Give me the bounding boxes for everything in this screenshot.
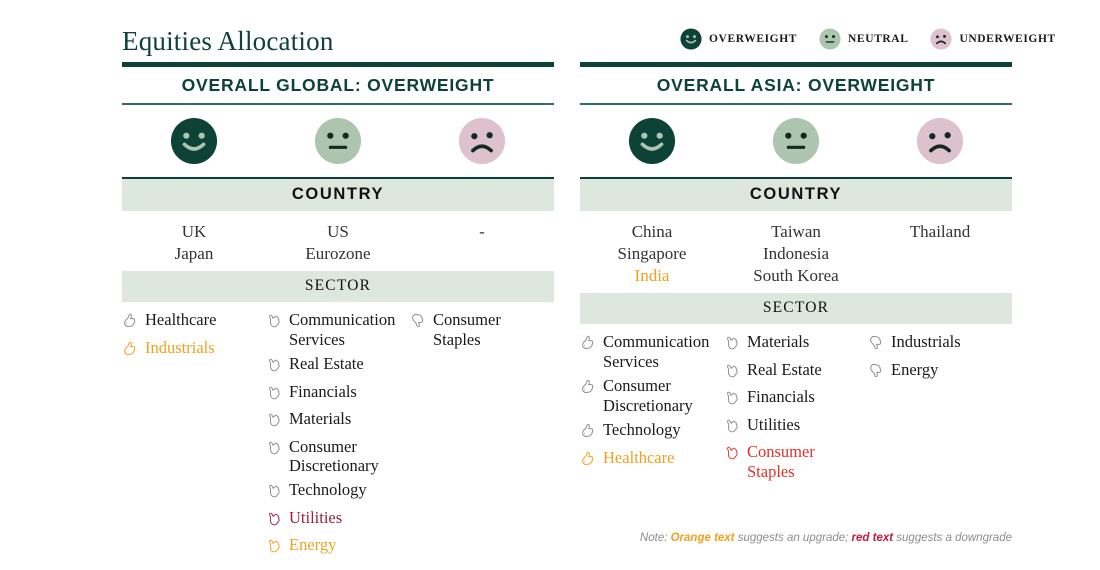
sector-column-2: IndustrialsEnergy bbox=[868, 332, 1012, 486]
sector-item: Materials bbox=[724, 332, 862, 354]
sector-item: Consumer Staples bbox=[724, 442, 862, 481]
sector-item: Energy bbox=[266, 535, 404, 557]
sector-item: Technology bbox=[580, 420, 718, 442]
legend-label: UNDERWEIGHT bbox=[959, 33, 1055, 45]
sector-item-label: Materials bbox=[747, 332, 862, 351]
country-item: Singapore bbox=[580, 243, 724, 265]
sector-item: Healthcare bbox=[580, 448, 718, 470]
face-cell-1 bbox=[724, 117, 868, 165]
face-row bbox=[580, 105, 1012, 177]
page-title: Equities Allocation bbox=[122, 26, 334, 57]
legend-item-neutral: NEUTRAL bbox=[819, 28, 908, 50]
equities-allocation-page: Equities Allocation OVERWEIGHTNEUTRALUND… bbox=[0, 0, 1100, 570]
sector-item-label: Utilities bbox=[289, 508, 404, 527]
thumbs-sideways-icon bbox=[724, 445, 740, 464]
thumbs-up-icon bbox=[122, 313, 138, 332]
thumbs-sideways-icon bbox=[266, 440, 282, 459]
sector-column-0: HealthcareIndustrials bbox=[122, 310, 266, 563]
smiley-face-icon bbox=[680, 28, 702, 50]
thumbs-sideways-icon bbox=[266, 483, 282, 502]
sector-item: Consumer Staples bbox=[410, 310, 548, 349]
country-column-1: TaiwanIndonesiaSouth Korea bbox=[724, 221, 868, 287]
sector-item: Communication Services bbox=[580, 332, 718, 371]
footnote-prefix: Note: bbox=[640, 532, 671, 544]
thumbs-up-icon bbox=[580, 423, 596, 442]
sector-item: Utilities bbox=[724, 415, 862, 437]
face-cell-1 bbox=[266, 117, 410, 165]
thumbs-sideways-icon bbox=[266, 313, 282, 332]
thumbs-down-icon bbox=[410, 313, 426, 332]
footnote-orange-text: Orange text bbox=[671, 532, 735, 544]
sector-item-label: Utilities bbox=[747, 415, 862, 434]
thumbs-sideways-icon bbox=[724, 335, 740, 354]
panel-global: OVERALL GLOBAL: OVERWEIGHTCOUNTRYUKJapan… bbox=[122, 62, 554, 563]
sector-row: HealthcareIndustrialsCommunication Servi… bbox=[122, 302, 554, 563]
sector-item: Real Estate bbox=[724, 360, 862, 382]
country-item: Thailand bbox=[868, 221, 1012, 243]
footnote-middle: suggests an upgrade; bbox=[735, 532, 852, 544]
thumbs-down-icon bbox=[868, 335, 884, 354]
sector-item-label: Real Estate bbox=[747, 360, 862, 379]
overall-heading: OVERALL GLOBAL: OVERWEIGHT bbox=[122, 67, 554, 103]
country-column-2: Thailand bbox=[868, 221, 1012, 287]
legend-label: NEUTRAL bbox=[848, 33, 908, 45]
thumbs-down-icon bbox=[868, 363, 884, 382]
sector-item-label: Consumer Staples bbox=[747, 442, 862, 481]
face-cell-0 bbox=[580, 117, 724, 165]
sector-item-label: Consumer Staples bbox=[433, 310, 548, 349]
sector-item: Materials bbox=[266, 409, 404, 431]
country-item: Japan bbox=[122, 243, 266, 265]
sector-item-label: Communication Services bbox=[603, 332, 718, 371]
thumbs-up-icon bbox=[580, 379, 596, 398]
country-row: ChinaSingaporeIndiaTaiwanIndonesiaSouth … bbox=[580, 211, 1012, 293]
sector-item-label: Industrials bbox=[145, 338, 260, 357]
sector-item: Consumer Discretionary bbox=[266, 437, 404, 476]
face-row bbox=[122, 105, 554, 177]
sector-item-label: Materials bbox=[289, 409, 404, 428]
panel-asia: OVERALL ASIA: OVERWEIGHTCOUNTRYChinaSing… bbox=[580, 62, 1012, 486]
country-item: India bbox=[580, 265, 724, 287]
country-item: US bbox=[266, 221, 410, 243]
sector-item-label: Consumer Discretionary bbox=[603, 376, 718, 415]
sector-item-label: Financials bbox=[747, 387, 862, 406]
country-row: UKJapanUSEurozone- bbox=[122, 211, 554, 271]
sector-item: Communication Services bbox=[266, 310, 404, 349]
footnote-red-text: red text bbox=[852, 532, 894, 544]
legend-label: OVERWEIGHT bbox=[709, 33, 797, 45]
legend: OVERWEIGHTNEUTRALUNDERWEIGHT bbox=[680, 28, 1078, 50]
sector-item: Energy bbox=[868, 360, 1006, 382]
footnote: Note: Orange text suggests an upgrade; r… bbox=[640, 532, 1012, 544]
sector-item: Financials bbox=[724, 387, 862, 409]
smiley-face-icon bbox=[170, 117, 218, 165]
country-item: China bbox=[580, 221, 724, 243]
sector-item-label: Technology bbox=[289, 480, 404, 499]
neutral-face-icon bbox=[819, 28, 841, 50]
country-header: COUNTRY bbox=[580, 179, 1012, 211]
country-column-0: ChinaSingaporeIndia bbox=[580, 221, 724, 287]
sector-header: SECTOR bbox=[122, 271, 554, 302]
thumbs-up-icon bbox=[580, 335, 596, 354]
sector-item: Industrials bbox=[122, 338, 260, 360]
thumbs-sideways-icon bbox=[266, 511, 282, 530]
thumbs-up-icon bbox=[580, 451, 596, 470]
thumbs-up-icon bbox=[122, 341, 138, 360]
thumbs-sideways-icon bbox=[724, 418, 740, 437]
footnote-suffix: suggests a downgrade bbox=[893, 532, 1012, 544]
frowny-face-icon bbox=[916, 117, 964, 165]
thumbs-sideways-icon bbox=[724, 390, 740, 409]
sector-item-label: Industrials bbox=[891, 332, 1006, 351]
thumbs-sideways-icon bbox=[266, 385, 282, 404]
country-item: Indonesia bbox=[724, 243, 868, 265]
country-item: Eurozone bbox=[266, 243, 410, 265]
sector-item: Financials bbox=[266, 382, 404, 404]
sector-item: Real Estate bbox=[266, 354, 404, 376]
face-cell-0 bbox=[122, 117, 266, 165]
country-item: UK bbox=[122, 221, 266, 243]
country-item: - bbox=[410, 221, 554, 243]
sector-item-label: Consumer Discretionary bbox=[289, 437, 404, 476]
thumbs-sideways-icon bbox=[724, 363, 740, 382]
neutral-face-icon bbox=[772, 117, 820, 165]
sector-item-label: Technology bbox=[603, 420, 718, 439]
sector-item-label: Healthcare bbox=[603, 448, 718, 467]
overall-heading: OVERALL ASIA: OVERWEIGHT bbox=[580, 67, 1012, 103]
country-column-1: USEurozone bbox=[266, 221, 410, 265]
country-column-2: - bbox=[410, 221, 554, 265]
face-cell-2 bbox=[868, 117, 1012, 165]
thumbs-sideways-icon bbox=[266, 538, 282, 557]
sector-column-2: Consumer Staples bbox=[410, 310, 554, 563]
thumbs-sideways-icon bbox=[266, 412, 282, 431]
sector-column-0: Communication ServicesConsumer Discretio… bbox=[580, 332, 724, 486]
sector-item-label: Financials bbox=[289, 382, 404, 401]
country-column-0: UKJapan bbox=[122, 221, 266, 265]
legend-item-overweight: OVERWEIGHT bbox=[680, 28, 797, 50]
sector-item: Healthcare bbox=[122, 310, 260, 332]
sector-item-label: Energy bbox=[891, 360, 1006, 379]
country-item: South Korea bbox=[724, 265, 868, 287]
sector-row: Communication ServicesConsumer Discretio… bbox=[580, 324, 1012, 486]
sector-item: Technology bbox=[266, 480, 404, 502]
thumbs-sideways-icon bbox=[266, 357, 282, 376]
frowny-face-icon bbox=[458, 117, 506, 165]
sector-item-label: Energy bbox=[289, 535, 404, 554]
sector-header: SECTOR bbox=[580, 293, 1012, 324]
neutral-face-icon bbox=[314, 117, 362, 165]
sector-item: Consumer Discretionary bbox=[580, 376, 718, 415]
sector-column-1: Communication ServicesReal EstateFinanci… bbox=[266, 310, 410, 563]
smiley-face-icon bbox=[628, 117, 676, 165]
country-header: COUNTRY bbox=[122, 179, 554, 211]
sector-column-1: MaterialsReal EstateFinancialsUtilitiesC… bbox=[724, 332, 868, 486]
frowny-face-icon bbox=[930, 28, 952, 50]
sector-item: Industrials bbox=[868, 332, 1006, 354]
sector-item-label: Real Estate bbox=[289, 354, 404, 373]
face-cell-2 bbox=[410, 117, 554, 165]
sector-item-label: Healthcare bbox=[145, 310, 260, 329]
legend-item-underweight: UNDERWEIGHT bbox=[930, 28, 1055, 50]
sector-item: Utilities bbox=[266, 508, 404, 530]
country-item: Taiwan bbox=[724, 221, 868, 243]
sector-item-label: Communication Services bbox=[289, 310, 404, 349]
